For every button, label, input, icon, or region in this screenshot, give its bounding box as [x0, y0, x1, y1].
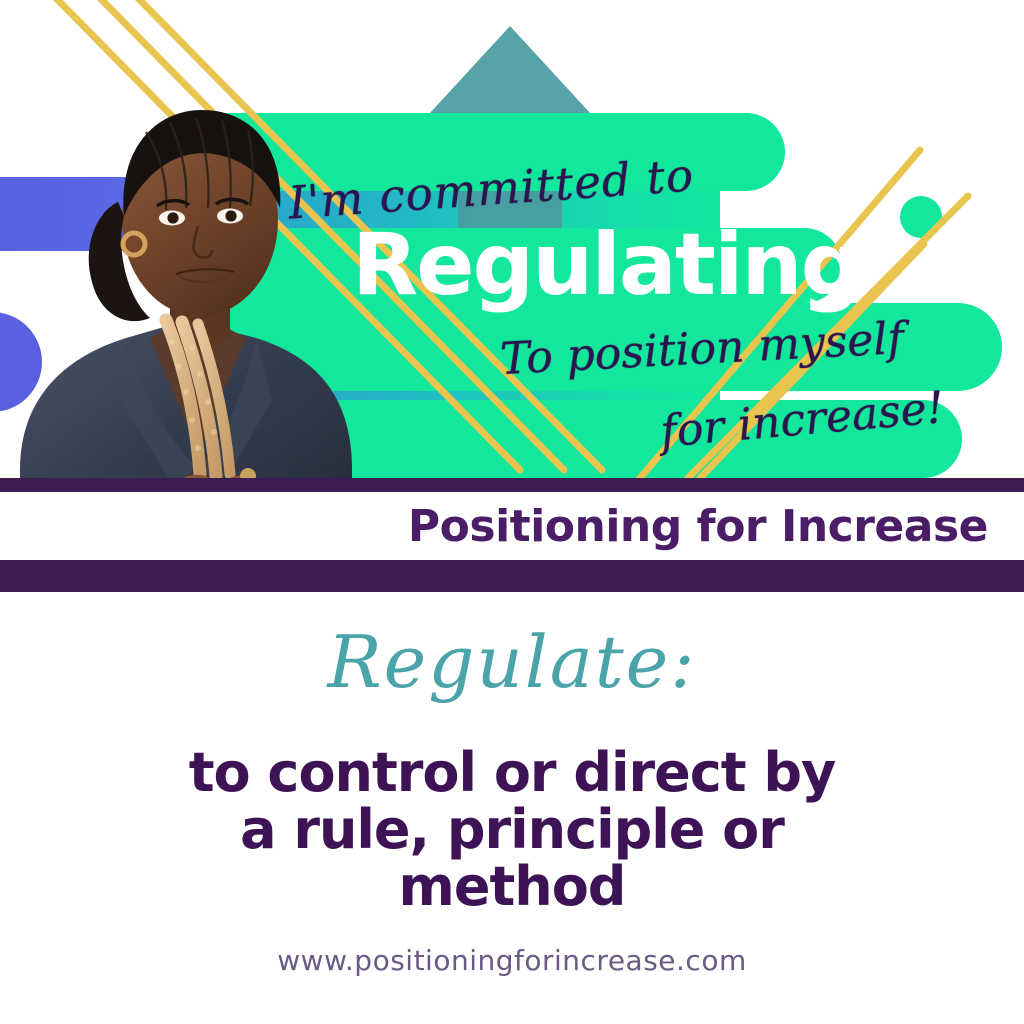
definition-line-2: a rule, principle or — [112, 801, 912, 858]
banner-title: Positioning for Increase — [0, 492, 1024, 560]
poster-canvas: I'm committed to Regulating To position … — [0, 0, 1024, 1024]
body-section: Regulate: to control or direct by a rule… — [0, 592, 1024, 1024]
definition-line-1: to control or direct by — [112, 744, 912, 801]
definition-text: to control or direct by a rule, principl… — [112, 744, 912, 916]
banner-rule-top — [0, 478, 1024, 492]
definition-line-3: method — [112, 858, 912, 915]
header-headline: Regulating — [352, 222, 860, 308]
website-url[interactable]: www.positioningforincrease.com — [0, 944, 1024, 977]
banner-rule-bottom — [0, 560, 1024, 592]
header-graphic: I'm committed to Regulating To position … — [0, 0, 1024, 478]
woman-portrait-photo — [0, 70, 395, 478]
term-script: Regulate: — [0, 620, 1024, 704]
